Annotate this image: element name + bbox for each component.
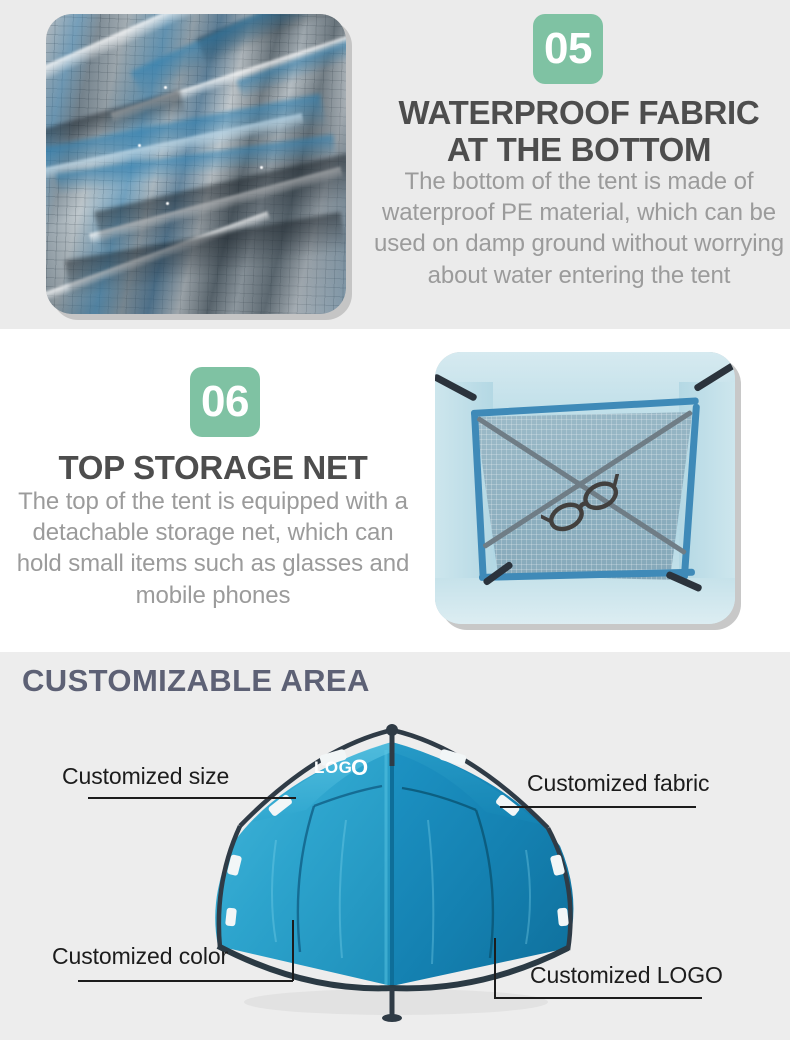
storage-net-photo-inner bbox=[435, 352, 735, 624]
feature-title-line2: AT THE BOTTOM bbox=[370, 131, 788, 168]
feature-number-text: 06 bbox=[201, 380, 249, 424]
callout-leader-customized-size bbox=[88, 797, 296, 799]
storage-net-photo bbox=[435, 352, 735, 624]
waterproof-fabric-photo bbox=[46, 14, 346, 314]
callout-label-customized-size: Customized size bbox=[62, 763, 229, 790]
fabric-sparkle bbox=[166, 202, 169, 205]
callout-label-customized-fabric: Customized fabric bbox=[527, 770, 709, 797]
waterproof-fabric-photo-inner bbox=[46, 14, 346, 314]
tent-pole-hub bbox=[386, 724, 398, 736]
product-infographic-page: 05 WATERPROOF FABRIC AT THE BOTTOM The b… bbox=[0, 0, 790, 1040]
tent-ground-shadow bbox=[244, 989, 548, 1015]
tent-peg-foot bbox=[382, 1014, 402, 1022]
feature-number-badge-05: 05 bbox=[533, 14, 603, 84]
feature-title-line1: TOP STORAGE NET bbox=[6, 449, 420, 486]
customizable-area-heading: CUSTOMIZABLE AREA bbox=[22, 663, 370, 699]
eyeglasses-icon bbox=[541, 474, 627, 536]
feature-number-badge-06: 06 bbox=[190, 367, 260, 437]
feature-number-text: 05 bbox=[544, 27, 592, 71]
callout-leader-customized-color-v bbox=[292, 920, 294, 981]
tent-logo-text-o: O bbox=[351, 755, 368, 780]
callout-leader-customized-logo-h bbox=[494, 997, 702, 999]
fabric-sparkle bbox=[260, 166, 263, 169]
callout-label-customized-logo: Customized LOGO bbox=[530, 962, 723, 989]
feature-title-05: WATERPROOF FABRIC AT THE BOTTOM bbox=[370, 94, 788, 169]
feature-description-06: The top of the tent is equipped with a d… bbox=[8, 486, 418, 611]
callout-label-customized-color: Customized color bbox=[52, 943, 228, 970]
callout-leader-customized-fabric bbox=[500, 806, 696, 808]
feature-title-line1: WATERPROOF FABRIC bbox=[370, 94, 788, 131]
feature-description-05: The bottom of the tent is made of waterp… bbox=[372, 166, 786, 291]
fabric-sparkle bbox=[138, 144, 141, 147]
feature-title-06: TOP STORAGE NET bbox=[6, 449, 420, 486]
callout-leader-customized-logo-v bbox=[494, 938, 496, 998]
callout-leader-customized-color-h bbox=[78, 980, 293, 982]
fabric-sparkle bbox=[164, 86, 167, 89]
tent-logo-text: LOG bbox=[314, 758, 352, 777]
